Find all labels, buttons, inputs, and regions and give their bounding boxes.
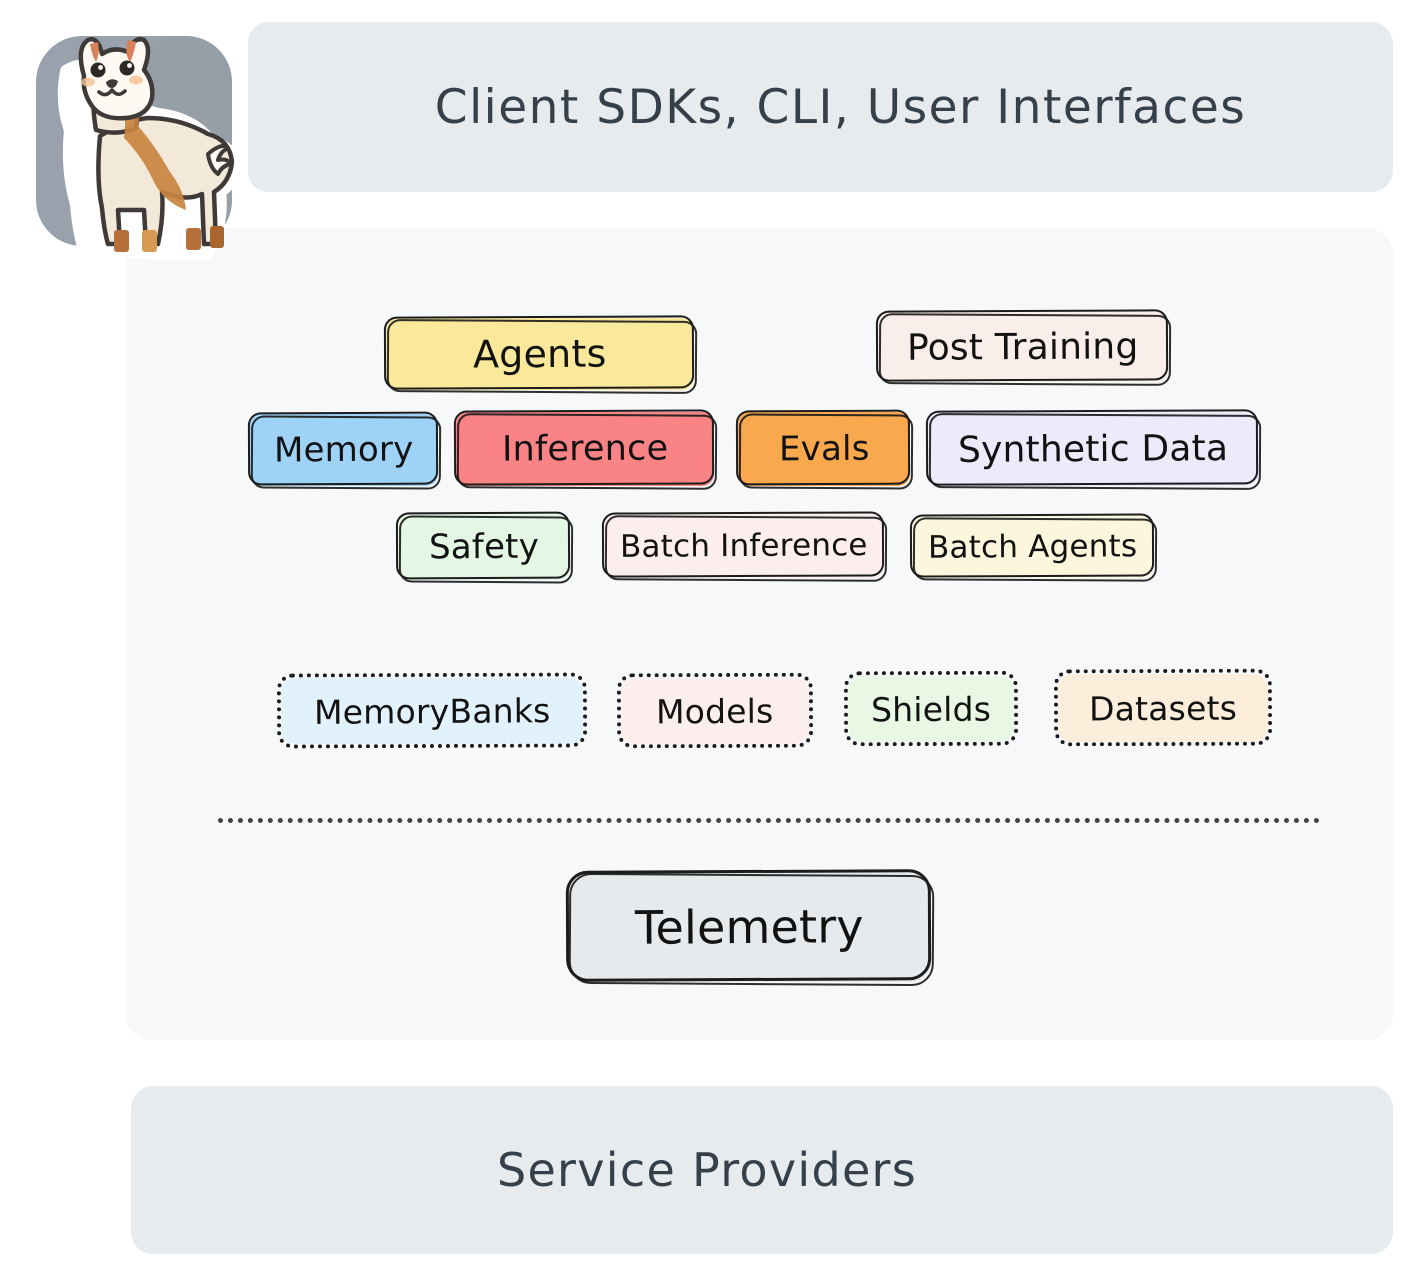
client-interfaces-label: Client SDKs, CLI, User Interfaces — [248, 80, 1393, 135]
api-box-label: Inference — [502, 428, 669, 469]
api-box-label: Synthetic Data — [958, 428, 1228, 471]
resource-box-label: MemoryBanks — [314, 691, 551, 732]
llama-logo-icon — [22, 18, 242, 270]
api-box-agents[interactable]: Agents — [386, 318, 694, 390]
service-providers-label: Service Providers — [131, 1143, 1393, 1197]
telemetry-box[interactable]: Telemetry — [568, 872, 931, 982]
api-box-label: Safety — [429, 527, 539, 568]
api-box-label: Batch Inference — [620, 527, 868, 565]
resource-box-label: Models — [656, 691, 774, 731]
api-box-label: Agents — [473, 332, 607, 377]
client-interfaces-banner: Client SDKs, CLI, User Interfaces — [248, 22, 1393, 192]
api-box-inference[interactable]: Inference — [456, 412, 714, 486]
api-box-safety[interactable]: Safety — [398, 514, 570, 580]
api-box-evals[interactable]: Evals — [738, 412, 910, 486]
service-providers-banner: Service Providers — [131, 1086, 1393, 1254]
api-box-batch-inference[interactable]: Batch Inference — [604, 514, 884, 578]
resource-box-label: Shields — [871, 689, 991, 729]
resource-box-models[interactable]: Models — [621, 678, 809, 744]
resource-box-shields[interactable]: Shields — [848, 676, 1014, 742]
llama-logo — [22, 18, 242, 270]
resource-box-datasets[interactable]: Datasets — [1058, 674, 1268, 742]
api-box-memory[interactable]: Memory — [250, 414, 438, 486]
api-box-label: Evals — [779, 429, 870, 470]
api-box-label: Post Training — [907, 326, 1139, 369]
resource-box-label: Datasets — [1089, 688, 1237, 728]
resource-box-memorybanks[interactable]: MemoryBanks — [281, 678, 583, 744]
telemetry-label: Telemetry — [635, 899, 864, 955]
api-box-batch-agents[interactable]: Batch Agents — [912, 516, 1154, 578]
section-divider — [218, 818, 1320, 823]
api-box-synthetic-data[interactable]: Synthetic Data — [928, 412, 1258, 486]
api-box-label: Memory — [274, 430, 414, 471]
api-box-post-training[interactable]: Post Training — [878, 312, 1168, 382]
api-box-label: Batch Agents — [928, 528, 1138, 565]
